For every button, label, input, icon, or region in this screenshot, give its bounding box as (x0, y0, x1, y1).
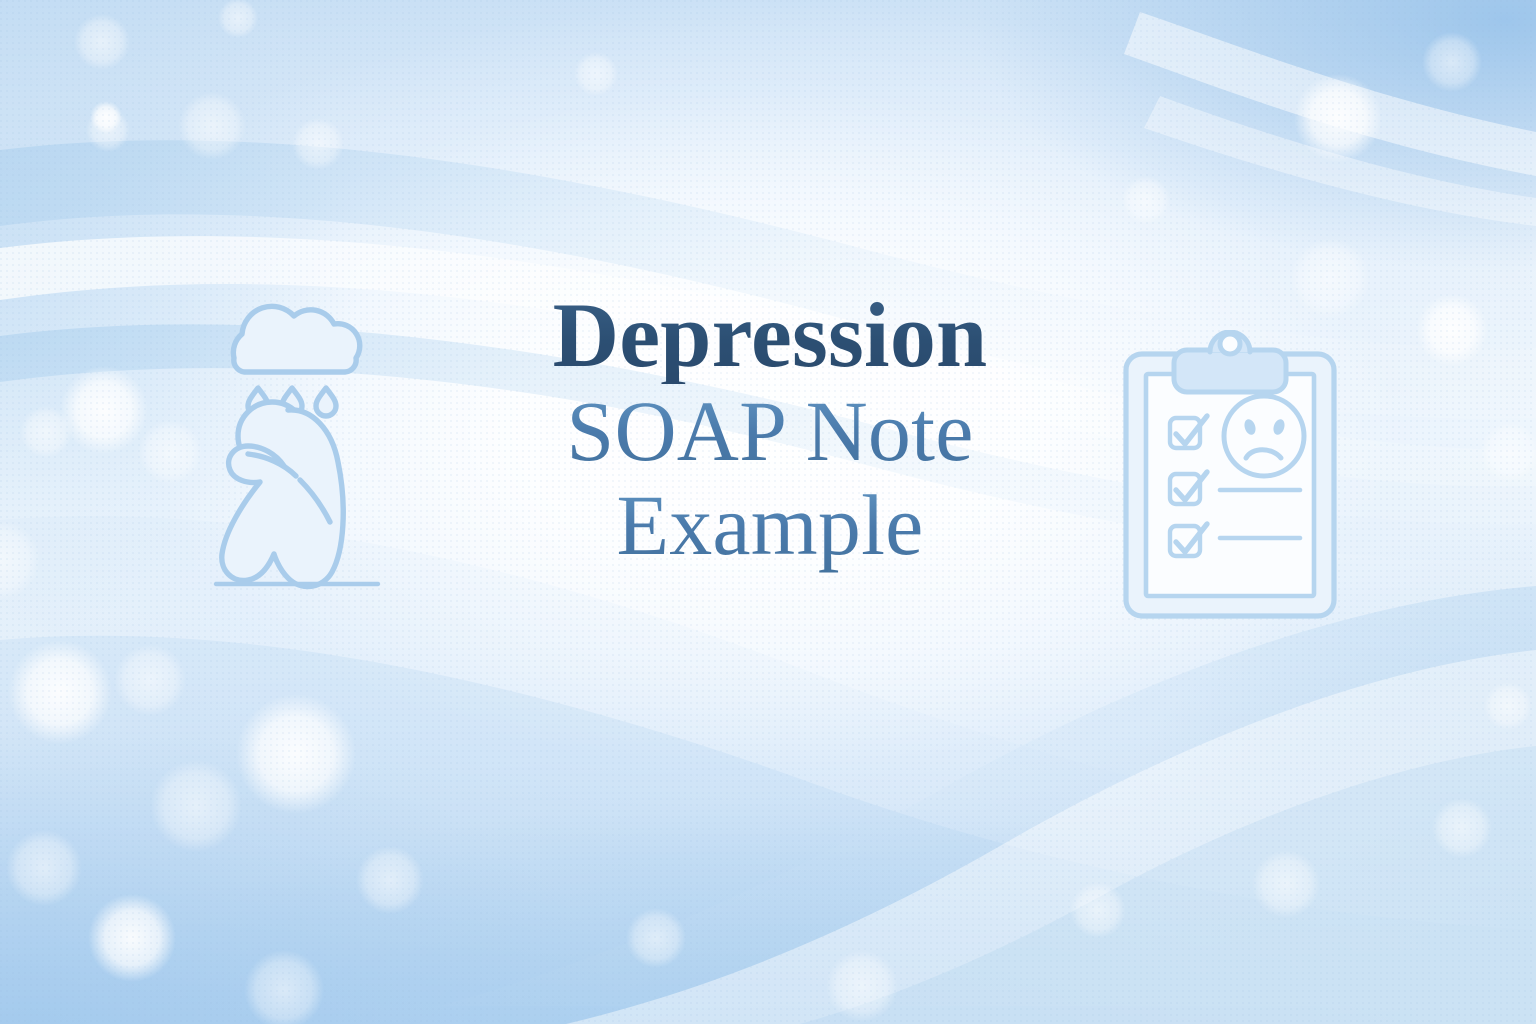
raindrop (316, 388, 336, 416)
title-line-example: Example (420, 478, 1120, 573)
poster-canvas: Depression SOAP Note Example (0, 0, 1536, 1024)
page-title: Depression SOAP Note Example (420, 288, 1120, 573)
clipboard-clip-ring (1220, 334, 1240, 354)
wave-band-bottom-right-2 (800, 746, 1536, 1024)
clipboard-checklist-icon (1112, 330, 1362, 630)
sad-person-under-rain-cloud-icon (196, 296, 426, 606)
wave-band-bottom-left-2 (0, 636, 1536, 1024)
title-line-depression: Depression (420, 288, 1120, 384)
sad-face (1224, 396, 1304, 476)
wave-streak-top-right (1124, 12, 1536, 176)
sad-face-outline (1224, 396, 1304, 476)
rain-cloud (233, 306, 359, 372)
wave-band-bottom-right (440, 586, 1536, 1006)
title-line-soap-note: SOAP Note (420, 384, 1120, 479)
wave-band-bottom-right-highlight (566, 650, 1536, 1024)
checklist-row (1170, 416, 1207, 448)
wave-streak-top-right-2 (1144, 96, 1536, 226)
